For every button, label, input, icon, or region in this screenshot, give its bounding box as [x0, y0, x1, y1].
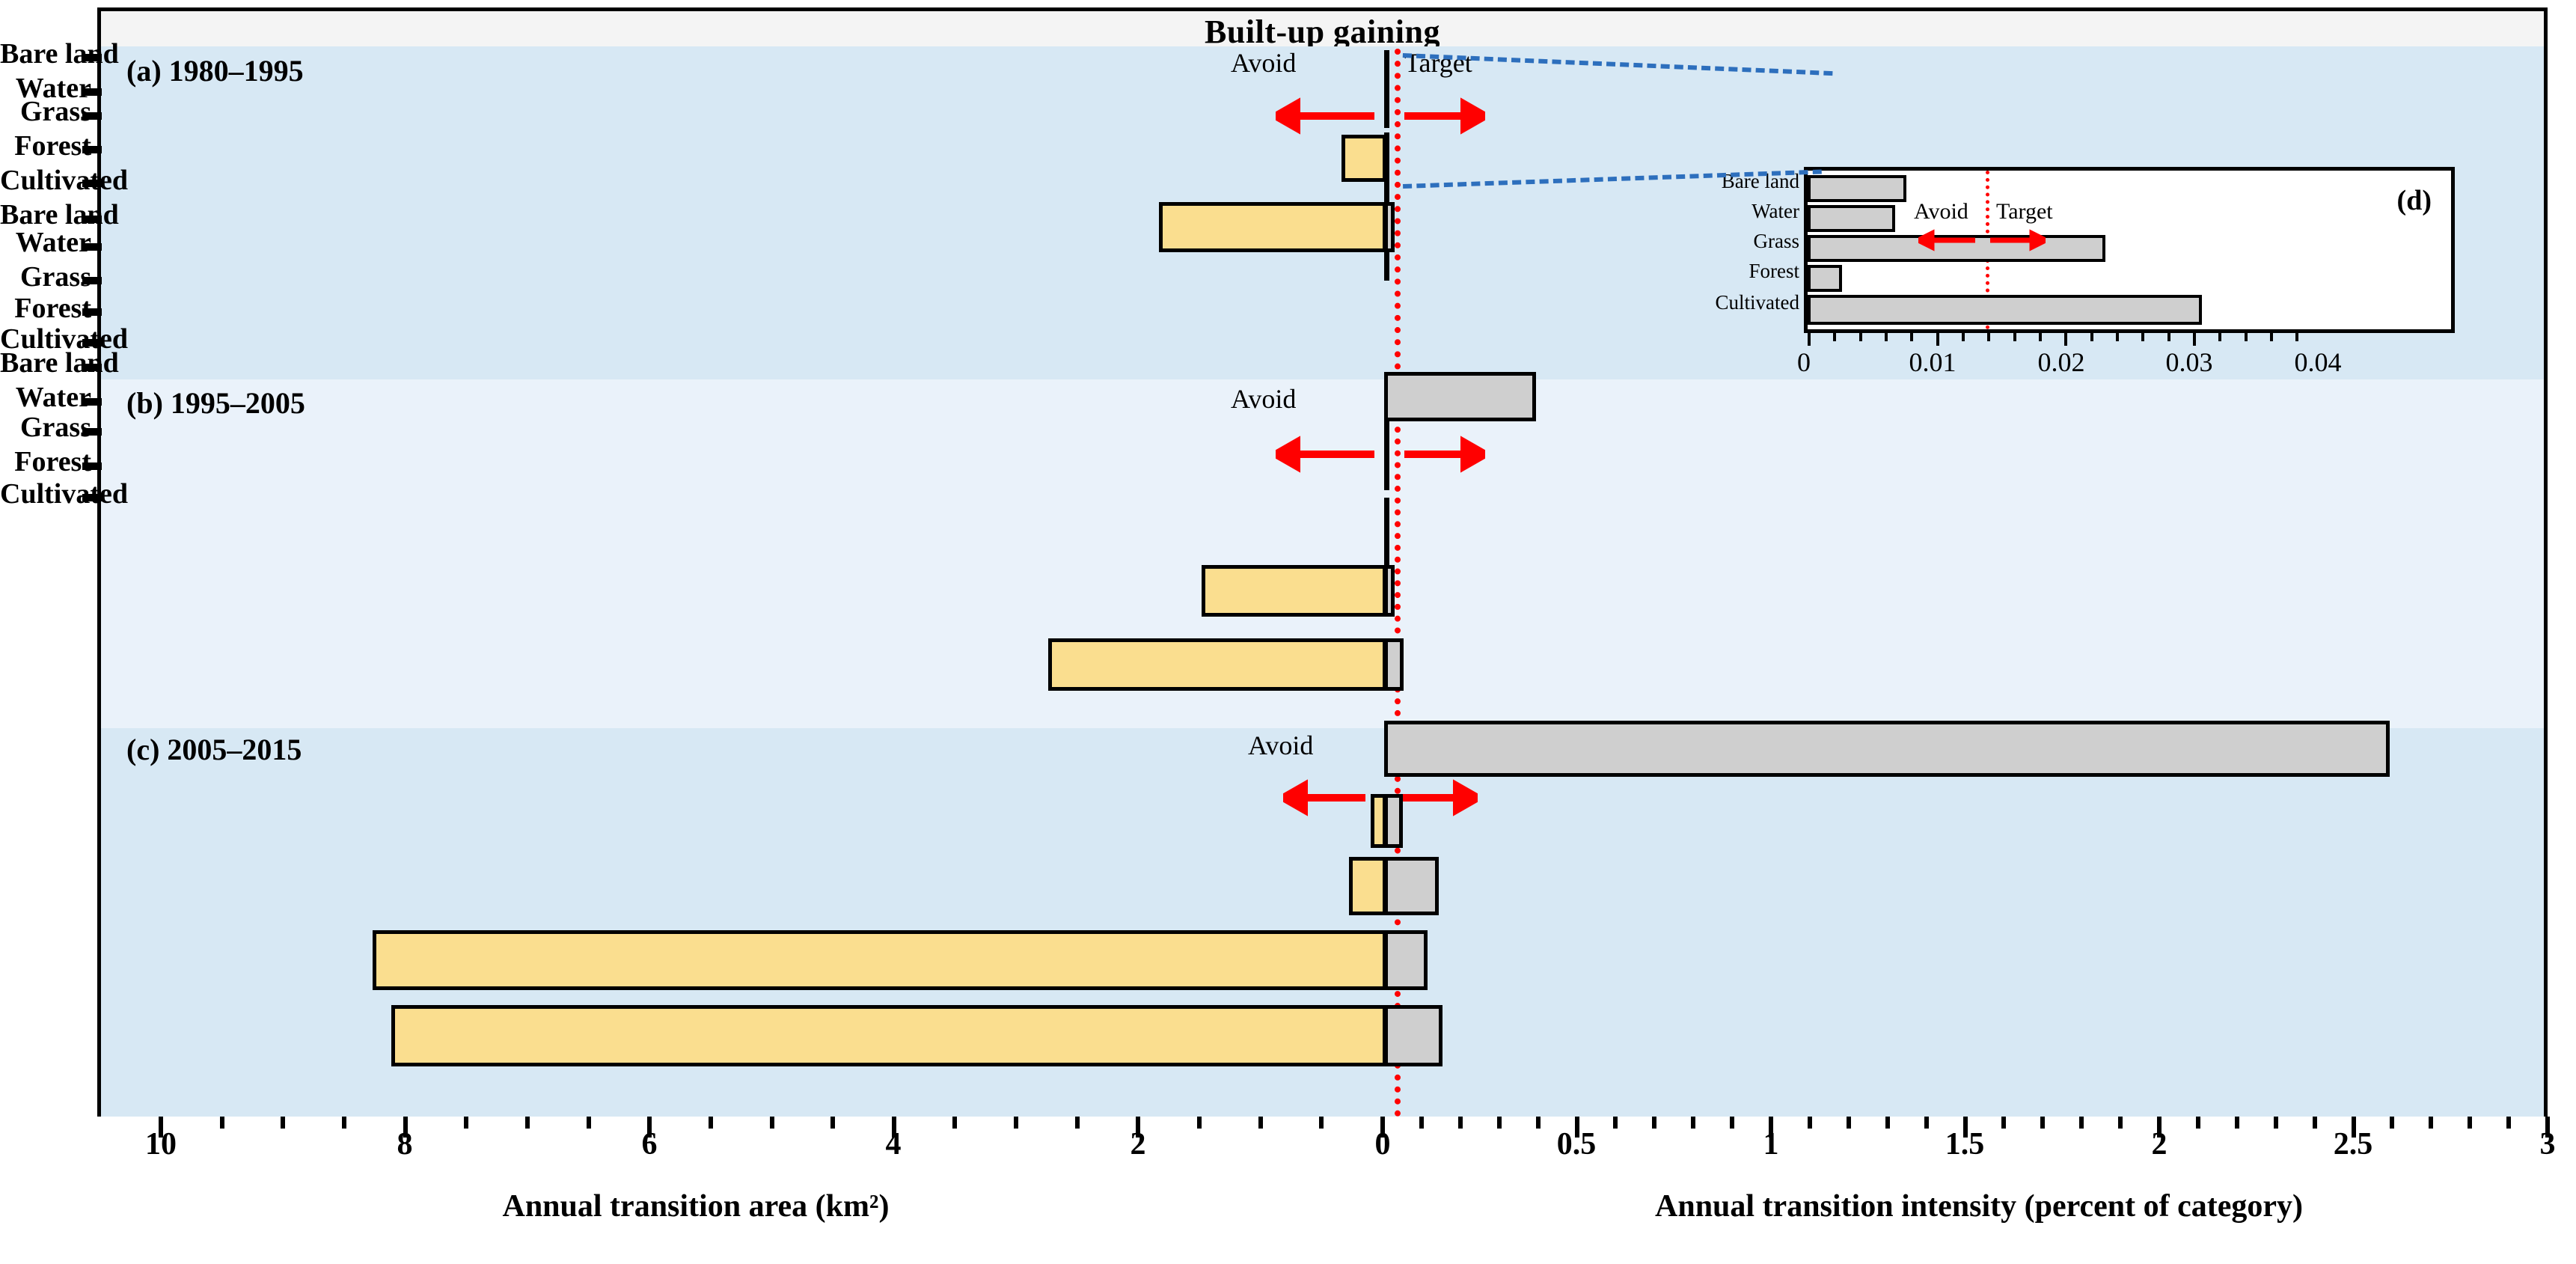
- xnum-right-1p5: 1.5: [1920, 1126, 2010, 1162]
- x-axis-tick-minor: [830, 1117, 835, 1129]
- x-axis-tick-minor: [1497, 1117, 1502, 1129]
- inset-bar-cultivated: [1808, 295, 2202, 325]
- ytick-c-water: [82, 398, 102, 406]
- x-axis-tick-minor: [1885, 1117, 1890, 1129]
- ytick-a-bareland: [82, 54, 102, 61]
- inset-bar-bareland: [1808, 175, 1906, 202]
- x-axis-tick-minor: [342, 1117, 346, 1129]
- inset-xtick-minor: [2218, 329, 2221, 341]
- ytick-b-cultivated: [82, 339, 102, 346]
- panel-label-c: (c) 2005–2015: [126, 732, 302, 767]
- inset-xtick-minor: [2245, 329, 2248, 341]
- x-axis-tick-minor: [587, 1117, 591, 1129]
- avoid-target-arrows-a: [1276, 94, 1485, 138]
- x-axis-tick-minor: [2079, 1117, 2084, 1129]
- inset-xtick-minor: [2039, 329, 2042, 341]
- inset-xnum-3: 0.03: [2144, 346, 2234, 378]
- ytick-c-cultivated: [82, 494, 102, 501]
- x-axis-tick-minor: [1458, 1117, 1463, 1129]
- inset-xnum-1: 0.01: [1888, 346, 1977, 378]
- right-axis-title: Annual transition intensity (percent of …: [1444, 1188, 2514, 1224]
- xnum-right-3: 3: [2503, 1126, 2576, 1162]
- inset-xtick-0: [1808, 329, 1811, 346]
- inset-xtick-minor: [1859, 329, 1862, 341]
- x-axis-tick-minor: [1319, 1117, 1324, 1129]
- bar-intensity-c-grass: [1384, 857, 1439, 915]
- ytick-label-b-water: Water: [0, 226, 91, 259]
- x-axis-tick-minor: [2235, 1117, 2239, 1129]
- x-axis-tick-minor: [281, 1117, 285, 1129]
- inset-xnum-2: 0.02: [2016, 346, 2106, 378]
- bar-area-c-cultivated: [391, 1005, 1386, 1066]
- bar-intensity-c-cultivated: [1384, 1005, 1443, 1066]
- xnum-left-10: 10: [116, 1126, 206, 1162]
- inset-xtick-1: [1936, 329, 1939, 346]
- x-axis-tick-minor: [1075, 1117, 1080, 1129]
- ytick-b-water: [82, 243, 102, 251]
- x-axis-tick-minor: [1847, 1117, 1851, 1129]
- xnum-right-2p5: 2.5: [2308, 1126, 2398, 1162]
- inset-xnum-4: 0.04: [2273, 346, 2363, 378]
- ytick-b-bareland: [82, 216, 102, 223]
- ytick-c-bareland: [82, 364, 102, 371]
- inset-xtick-minor: [2116, 329, 2119, 341]
- xnum-right-1: 1: [1726, 1126, 1816, 1162]
- inset-xtick-minor: [1962, 329, 1965, 341]
- inset-bar-water: [1808, 205, 1895, 232]
- avoid-label-c: Avoid: [1248, 730, 1313, 761]
- inset-ylabel-cultivated: Cultivated: [1635, 291, 1799, 314]
- ytick-a-forest: [82, 146, 102, 153]
- ytick-b-forest: [82, 308, 102, 316]
- xnum-left-8: 8: [360, 1126, 450, 1162]
- ytick-label-c-cultivated: Cultivated: [0, 477, 91, 510]
- x-axis-tick-minor: [952, 1117, 957, 1129]
- panel-label-a: (a) 1980–1995: [126, 53, 304, 88]
- ytick-label-b-grass: Grass: [0, 260, 91, 293]
- inset-xtick-minor: [2295, 329, 2298, 341]
- inset-xtick-minor: [1987, 329, 1990, 341]
- x-axis-tick-minor: [709, 1117, 713, 1129]
- bar-intensity-b-cultivated: [1384, 638, 1404, 691]
- panel-label-b: (b) 1995–2005: [126, 385, 305, 421]
- bar-area-b-cultivated: [1048, 638, 1386, 691]
- x-axis-tick-minor: [525, 1117, 530, 1129]
- avoid-label-b: Avoid: [1231, 383, 1296, 415]
- bar-area-c-grass: [1349, 857, 1386, 915]
- x-axis-tick-minor: [1197, 1117, 1202, 1129]
- inset-xtick-minor: [2167, 329, 2170, 341]
- inset-avoid-target-arrows: [1918, 228, 2046, 253]
- x-axis-tick-minor: [1691, 1117, 1695, 1129]
- ytick-a-cultivated: [82, 180, 102, 187]
- inset-xtick-3: [2193, 329, 2196, 346]
- x-axis-tick-minor: [220, 1117, 224, 1129]
- bar-area-a-forest: [1341, 135, 1386, 182]
- ytick-c-forest: [82, 462, 102, 470]
- inset-target-label: Target: [1996, 199, 2053, 225]
- inset-xtick-2: [2064, 329, 2067, 346]
- inset-xtick-minor: [1885, 329, 1888, 341]
- chart-title: Built-up gaining: [101, 13, 2544, 51]
- x-axis-tick-minor: [464, 1117, 468, 1129]
- x-axis-tick-minor: [1014, 1117, 1018, 1129]
- ytick-label-a-bareland: Bare land: [0, 37, 91, 70]
- inset-xtick-minor: [2090, 329, 2093, 341]
- inset-bar-forest: [1808, 265, 1842, 292]
- ytick-label-a-cultivated: Cultivated: [0, 164, 91, 197]
- ytick-label-c-forest: Forest: [0, 445, 91, 478]
- ytick-label-b-forest: Forest: [0, 292, 91, 325]
- x-axis-tick-minor: [2429, 1117, 2433, 1129]
- bar-intensity-a-cultivated: [1384, 202, 1395, 252]
- x-axis-tick-minor: [1258, 1117, 1263, 1129]
- x-axis-tick-minor: [2040, 1117, 2045, 1129]
- zero-line-b-2: [1384, 498, 1389, 573]
- ytick-label-c-water: Water: [0, 381, 91, 414]
- bar-intensity-c-water: [1384, 794, 1403, 848]
- inset-ylabel-forest: Forest: [1635, 260, 1799, 283]
- x-axis-tick-minor: [2274, 1117, 2278, 1129]
- inset-xnum-0: 0: [1759, 346, 1849, 378]
- bar-area-c-forest: [373, 930, 1386, 990]
- ytick-a-water: [82, 88, 102, 96]
- bar-intensity-b-bareland: [1384, 372, 1536, 421]
- xnum-left-6: 6: [605, 1126, 694, 1162]
- xnum-right-0: 0: [1338, 1126, 1428, 1162]
- left-axis-title: Annual transition area (km²): [284, 1188, 1107, 1224]
- xnum-right-0p5: 0.5: [1532, 1126, 1621, 1162]
- ytick-b-grass: [82, 277, 102, 284]
- x-axis-tick-minor: [2468, 1117, 2472, 1129]
- inset-xtick-minor: [1910, 329, 1913, 341]
- plot-frame: Built-up gaining (a) 1980–1995 Avoid Tar…: [97, 7, 2548, 1117]
- ytick-label-c-bareland: Bare land: [0, 346, 91, 379]
- inset-ylabel-water: Water: [1635, 200, 1799, 223]
- target-label-a: Target: [1404, 47, 1472, 79]
- bar-intensity-c-forest: [1384, 930, 1428, 990]
- inset-label-d: (d): [2397, 184, 2432, 217]
- avoid-target-arrows-b: [1276, 432, 1485, 477]
- bar-intensity-c-bareland: [1384, 721, 2390, 777]
- bar-area-a-cultivated: [1159, 202, 1386, 252]
- ytick-label-c-grass: Grass: [0, 411, 91, 444]
- inset-xtick-minor: [2013, 329, 2016, 341]
- inset-avoid-label: Avoid: [1914, 199, 1968, 225]
- inset-panel-d: (d) Avoid Target: [1804, 167, 2455, 333]
- ytick-a-grass: [82, 112, 102, 120]
- x-axis-tick-minor: [1652, 1117, 1656, 1129]
- ytick-c-grass: [82, 428, 102, 436]
- ytick-label-a-grass: Grass: [0, 95, 91, 128]
- xnum-left-2: 2: [1093, 1126, 1183, 1162]
- xnum-right-2: 2: [2114, 1126, 2204, 1162]
- chart-root: Built-up gaining (a) 1980–1995 Avoid Tar…: [0, 0, 2576, 1264]
- inset-xtick-minor: [2270, 329, 2273, 341]
- inset-xtick-minor: [1833, 329, 1836, 341]
- inset-xtick-minor: [2141, 329, 2144, 341]
- xnum-left-4: 4: [848, 1126, 938, 1162]
- x-axis-tick-minor: [770, 1117, 774, 1129]
- bar-intensity-b-forest: [1384, 565, 1395, 617]
- ytick-label-a-forest: Forest: [0, 129, 91, 162]
- bar-area-b-forest: [1202, 565, 1386, 617]
- avoid-label-a: Avoid: [1231, 47, 1296, 79]
- inset-ylabel-grass: Grass: [1635, 230, 1799, 253]
